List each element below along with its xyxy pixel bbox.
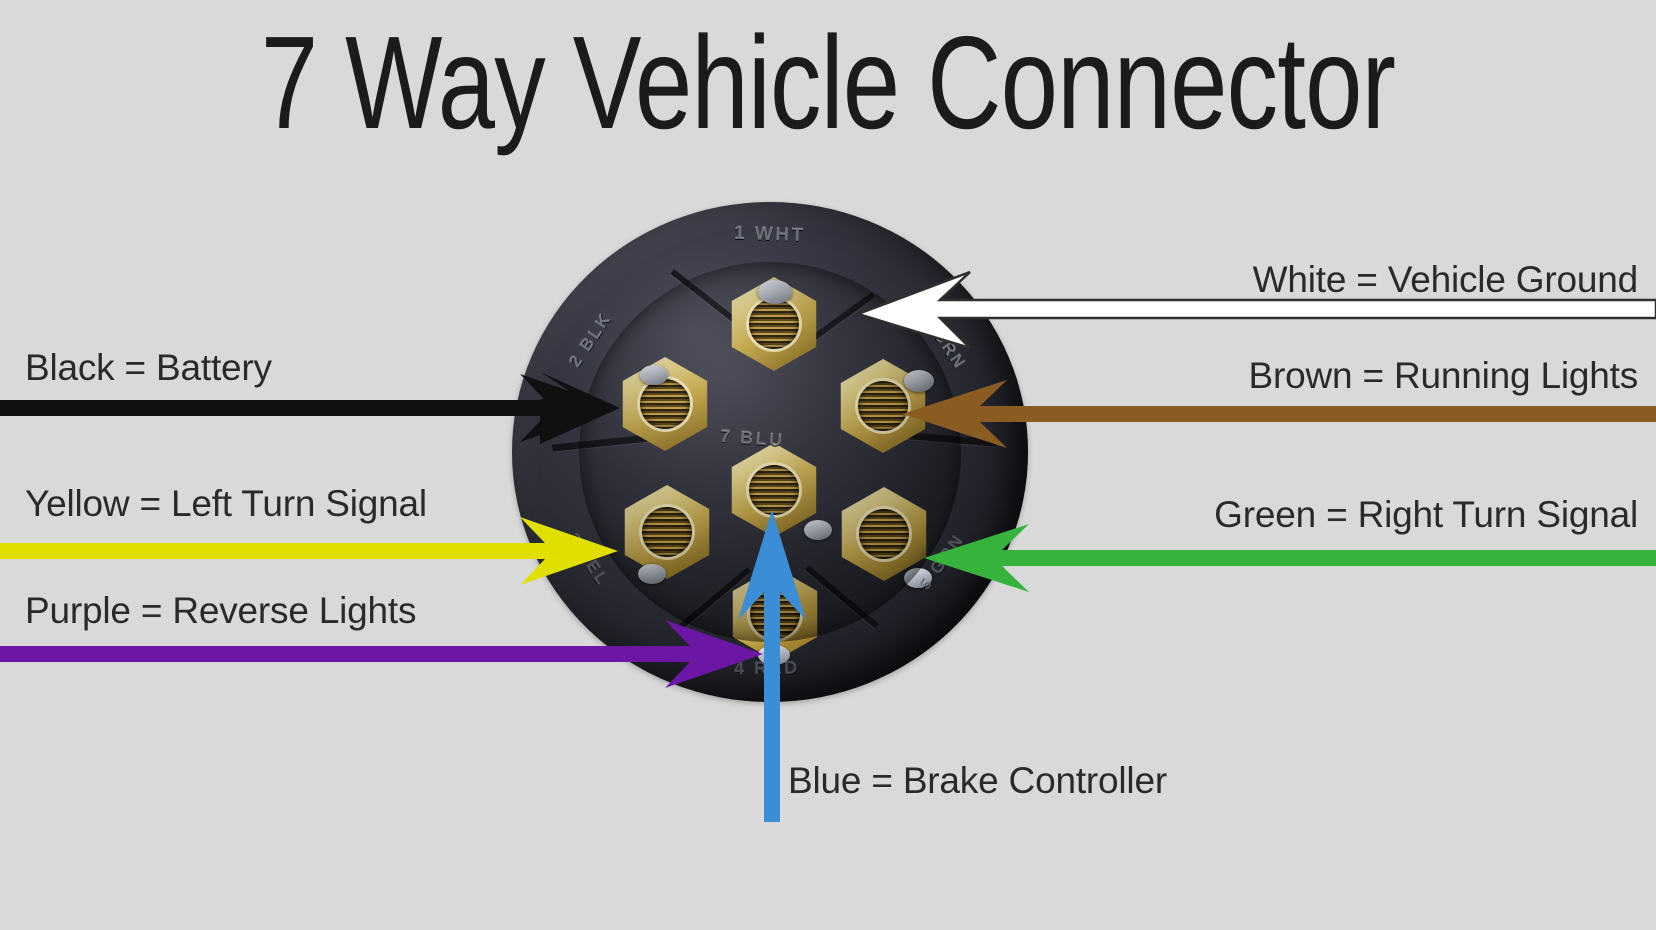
terminal-1-white	[726, 276, 822, 372]
arrow-green	[890, 522, 1656, 594]
arrow-yellow	[0, 513, 650, 585]
diagram-canvas: 7 Way Vehicle Connector	[0, 0, 1656, 930]
arrow-brown	[880, 378, 1656, 450]
terminal-lug	[758, 280, 792, 304]
arrow-white	[830, 270, 1656, 350]
terminal-bore	[749, 299, 799, 349]
legend-label-blue: Blue = Brake Controller	[788, 760, 1167, 802]
arrow-black	[0, 372, 650, 444]
molded-label-7-blu: 7 BLU	[719, 426, 785, 451]
arrow-blue	[722, 492, 822, 822]
page-title: 7 Way Vehicle Connector	[182, 14, 1474, 153]
connector-seam	[670, 269, 749, 333]
arrow-purple	[0, 620, 790, 692]
